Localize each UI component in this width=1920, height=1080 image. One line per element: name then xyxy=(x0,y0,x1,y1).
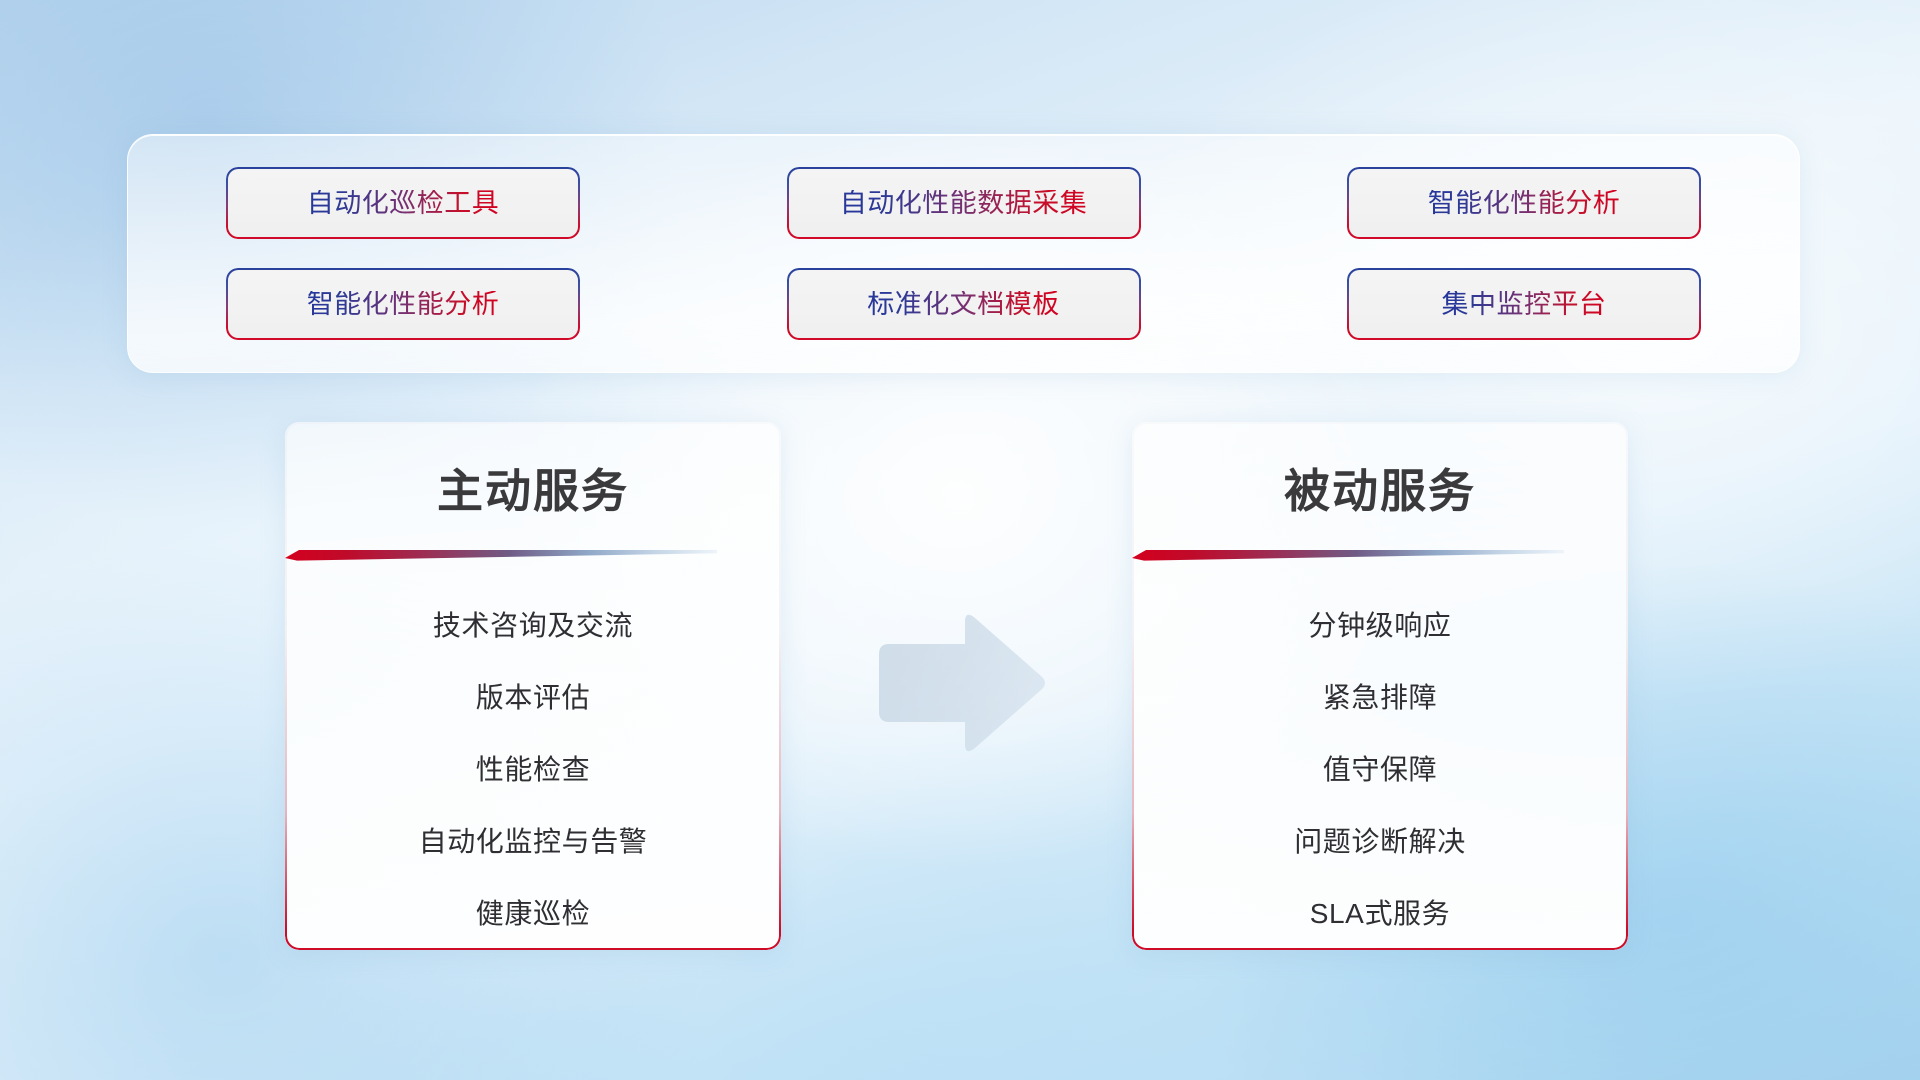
pill-auto-inspection-tool[interactable]: 自动化巡检工具 xyxy=(226,167,580,239)
card-title-divider xyxy=(1132,547,1564,561)
card-passive-service-list: 分钟级响应 紧急排障 值守保障 问题诊断解决 SLA式服务 xyxy=(1132,590,1628,950)
card-title: 被动服务 xyxy=(1132,466,1628,517)
pill-smart-perf-analysis-top[interactable]: 智能化性能分析 xyxy=(1347,167,1701,239)
list-item: 技术咨询及交流 xyxy=(433,590,633,662)
pill-label: 自动化性能数据采集 xyxy=(840,190,1088,217)
card-active-service-list: 技术咨询及交流 版本评估 性能检查 自动化监控与告警 健康巡检 xyxy=(285,590,781,950)
pill-label: 智能化性能分析 xyxy=(307,291,500,318)
pill-label: 智能化性能分析 xyxy=(1428,190,1621,217)
pill-label: 自动化巡检工具 xyxy=(307,190,500,217)
list-item: 性能检查 xyxy=(476,734,590,806)
pill-standard-doc-template[interactable]: 标准化文档模板 xyxy=(787,268,1141,340)
pill-row-1: 自动化巡检工具 自动化性能数据采集 智能化性能分析 xyxy=(128,167,1799,239)
pill-row-2: 智能化性能分析 标准化文档模板 集中监控平台 xyxy=(128,268,1799,340)
pill-central-monitoring-platform[interactable]: 集中监控平台 xyxy=(1347,268,1701,340)
card-active-service: 主动服务 技术咨询及交流 版本评估 性能检查 自动化监控与告警 健康巡检 xyxy=(285,422,781,950)
list-item: 版本评估 xyxy=(476,662,590,734)
pill-smart-perf-analysis-bottom[interactable]: 智能化性能分析 xyxy=(226,268,580,340)
pill-label: 集中监控平台 xyxy=(1442,291,1607,318)
list-item: 紧急排障 xyxy=(1323,662,1437,734)
list-item: 健康巡检 xyxy=(476,878,590,950)
list-item: SLA式服务 xyxy=(1310,878,1451,950)
list-item: 分钟级响应 xyxy=(1308,590,1451,662)
card-passive-service: 被动服务 分钟级响应 紧急排障 值守保障 问题诊断解决 SLA式服务 xyxy=(1132,422,1628,950)
list-item: 自动化监控与告警 xyxy=(419,806,648,878)
card-title-divider xyxy=(285,547,717,561)
pill-label: 标准化文档模板 xyxy=(867,291,1060,318)
list-item: 值守保障 xyxy=(1323,734,1437,806)
capability-pills-panel: 自动化巡检工具 自动化性能数据采集 智能化性能分析 智能化性能分析 标准化文档模… xyxy=(127,134,1800,373)
card-title: 主动服务 xyxy=(285,466,781,517)
right-arrow-icon xyxy=(869,610,1049,758)
list-item: 问题诊断解决 xyxy=(1294,806,1466,878)
pill-auto-perf-data-collection[interactable]: 自动化性能数据采集 xyxy=(787,167,1141,239)
